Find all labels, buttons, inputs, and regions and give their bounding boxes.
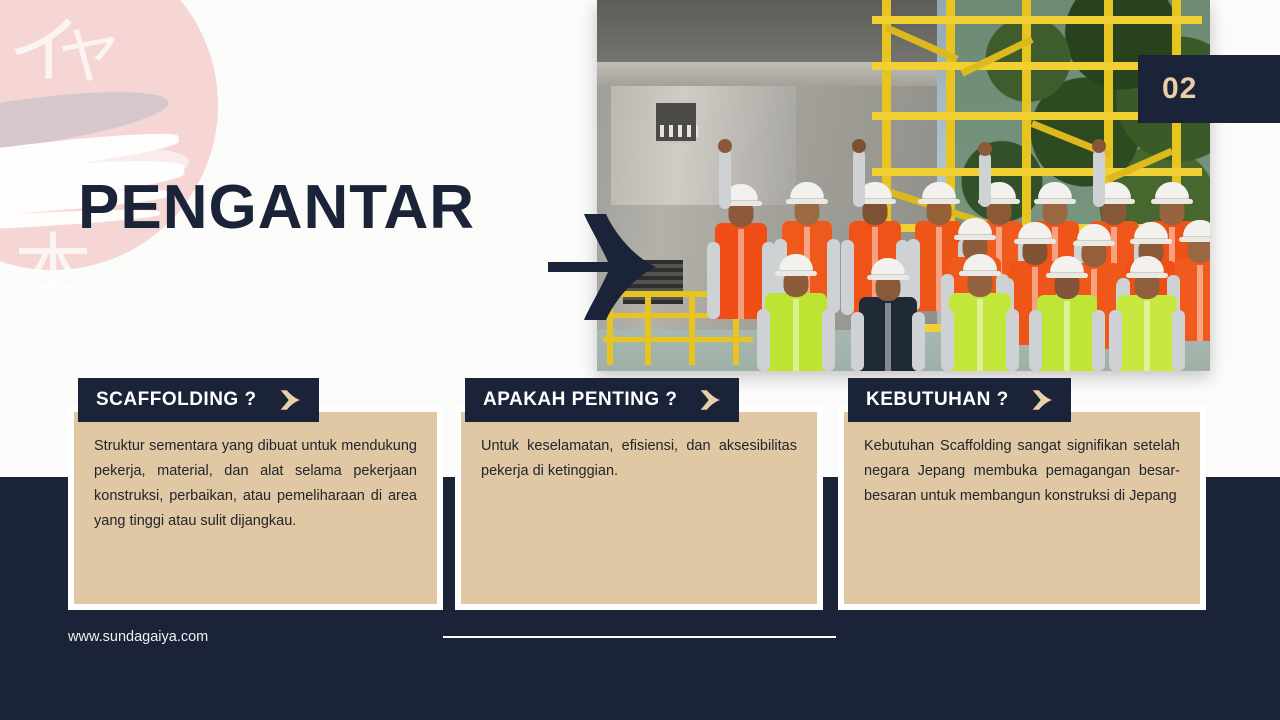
photo-worker-hardhat [963,254,997,273]
card-body-text: Kebutuhan Scaffolding sangat signifikan … [864,434,1180,509]
photo-worker-sleeve [1029,310,1042,371]
photo-worker-vest [1117,295,1177,371]
photo-worker-raised-arm [979,152,991,207]
photo-worker-hardhat [958,218,992,237]
photo-worker-fist [852,139,866,153]
photo-worker [1037,249,1097,371]
card-header-label: APAKAH PENTING ? [483,389,677,411]
photo-worker-vest [859,297,917,371]
card-frame: Kebutuhan Scaffolding sangat signifikan … [838,406,1206,610]
photo-worker-hardhat [1130,256,1164,275]
card-panel: Untuk keselamatan, efisiensi, dan aksesi… [461,412,817,604]
photo-worker-sleeve [1109,310,1122,371]
photo-worker-sleeve [1092,310,1105,371]
arrow-right-icon [544,210,664,325]
card-header[interactable]: SCAFFOLDING ? [78,378,319,422]
japanese-glyph-icon: 本 [14,232,92,310]
photo-worker [715,177,767,319]
presentation-slide: イ ヤ 本 02 PE [0,0,1280,720]
card-header-label: SCAFFOLDING ? [96,389,257,411]
photo-worker-hardhat [790,182,824,201]
photo-worker [1117,249,1177,371]
photo-worker-raised-arm [1093,149,1105,207]
photo-worker-sleeve [851,312,864,371]
page-title: PENGANTAR [78,172,475,243]
photo-worker-hardhat [1183,220,1210,239]
photo-worker-sleeve [757,309,770,371]
photo-worker-hardhat [922,182,956,201]
photo-worker-sleeve [912,312,925,371]
photo-worker-sleeve [1172,310,1185,371]
card-header-label: KEBUTUHAN ? [866,389,1009,411]
photo-worker-fist [978,142,992,156]
arrow-right-icon [271,389,301,411]
card-header[interactable]: KEBUTUHAN ? [848,378,1071,422]
photo-worker-sleeve [941,309,954,371]
photo-worker-fist [718,139,732,153]
photo-worker-vest [1037,295,1097,371]
photo-worker-raised-arm [719,149,731,209]
photo-worker-sleeve [707,242,720,319]
card-panel: Kebutuhan Scaffolding sangat signifikan … [844,412,1200,604]
photo-worker-hardhat [1050,256,1084,275]
photo-worker-vest [949,293,1011,371]
photo-worker-hardhat [1018,222,1052,241]
photo-scaffold-rail [872,16,1202,24]
photo-worker-hardhat [1038,182,1072,201]
photo-worker-vest [765,293,827,371]
photo-worker-raised-arm [853,149,865,207]
photo-window [653,100,699,144]
card-frame: Struktur sementara yang dibuat untuk men… [68,406,443,610]
footer-divider [443,636,836,638]
photo-worker [949,247,1011,371]
card-body-text: Untuk keselamatan, efisiensi, dan aksesi… [481,434,797,484]
photo-worker-vest [715,223,767,319]
photo-worker-hardhat [1077,224,1111,243]
photo-worker-sleeve [827,239,840,313]
photo-beam [693,30,853,47]
photo-worker-fist [1092,139,1106,153]
footer-url[interactable]: www.sundagaiya.com [68,629,208,645]
photo-worker-sleeve [1006,309,1019,371]
photo-worker-hardhat [871,258,905,277]
card-frame: Untuk keselamatan, efisiensi, dan aksesi… [455,406,823,610]
arrow-right-icon [691,389,721,411]
card-panel: Struktur sementara yang dibuat untuk men… [74,412,437,604]
hero-photo [597,0,1210,371]
photo-worker-sleeve [822,309,835,371]
photo-worker [859,251,917,371]
photo-worker-hardhat [1134,222,1168,241]
photo-worker-group [597,221,1210,371]
japanese-glyph-icon: ヤ [58,26,120,88]
page-number: 02 [1162,72,1197,106]
photo-worker [765,247,827,371]
card-header[interactable]: APAKAH PENTING ? [465,378,739,422]
page-number-badge: 02 [1138,55,1280,123]
photo-worker-sleeve [841,240,854,315]
photo-beam [657,9,873,44]
photo-worker-hardhat [779,254,813,273]
photo-worker-hardhat [1155,182,1189,201]
card-body-text: Struktur sementara yang dibuat untuk men… [94,434,417,534]
arrow-right-icon [1023,389,1053,411]
photo-upper-wall [611,0,796,205]
